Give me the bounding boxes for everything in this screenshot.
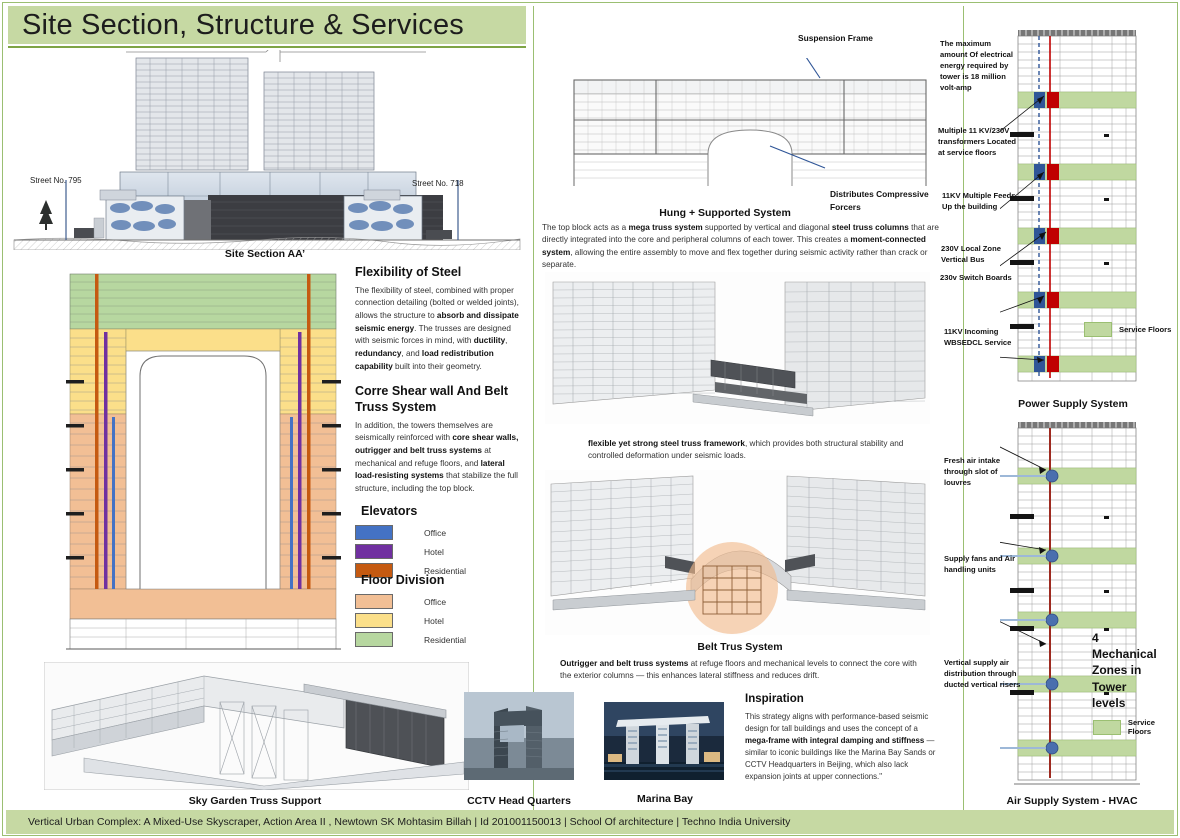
board-footer: Vertical Urban Complex: A Mixed-Use Skys… <box>6 810 1174 834</box>
belt-truss-text: Outrigger and belt truss systems at refu… <box>560 658 930 683</box>
power-anno-incoming: 11KV Incoming WBSEDCL Service <box>944 326 1028 348</box>
flexibility-body: The flexibility of steel, combined with … <box>355 285 525 374</box>
service-floors-label: Service Floors <box>1119 325 1171 334</box>
site-section-caption: Site Section AA’ <box>120 248 410 260</box>
inspiration-text: This strategy aligns with performance-ba… <box>745 711 937 782</box>
legend-label: Office <box>424 597 446 607</box>
mechanical-zones-note: 4 Mechanical Zones in Tower levels <box>1092 630 1154 711</box>
swatch-residential-floor <box>355 632 393 647</box>
flexibility-heading: Flexibility of Steel <box>355 265 525 281</box>
tower-section-drawing <box>66 272 341 657</box>
suspension-frame-label: Suspension Frame <box>798 32 908 44</box>
power-service-floors-legend: Service Floors <box>1084 322 1171 337</box>
hvac-anno-vertical-risers: Vertical supply air distribution through… <box>944 657 1026 690</box>
legend-item: Office <box>355 523 525 542</box>
legend-item: Residential <box>355 630 525 649</box>
hung-supported-elevation <box>560 58 940 186</box>
hvac-anno-supply-fans: Supply fans and Air handling units <box>944 553 1026 575</box>
belt-truss-body: Outrigger and belt truss systems at refu… <box>560 658 930 683</box>
marina-bay-caption: Marina Bay <box>600 793 730 805</box>
floor-division-legend-title: Floor Division <box>361 573 525 587</box>
core-shear-heading: Corre Shear wall And Belt Truss System <box>355 383 525 416</box>
power-anno-switchboards: 230v Switch Boards <box>940 272 1026 283</box>
legend-item: Hotel <box>355 611 525 630</box>
legend-label: Residential <box>424 635 466 645</box>
legend-item: Office <box>355 592 525 611</box>
swatch-office-floor <box>355 594 393 609</box>
site-section-drawing <box>8 50 526 250</box>
hvac-service-floors-legend: Service Floors <box>1093 718 1180 737</box>
hung-supported-body: The top block acts as a mega truss syste… <box>542 222 940 271</box>
hvac-anno-fresh-air: Fresh air intake through slot of louvres <box>944 455 1024 488</box>
legend-label: Office <box>424 528 446 538</box>
hvac-caption: Air Supply System - HVAC <box>972 795 1172 807</box>
elevators-legend-title: Elevators <box>361 504 525 518</box>
legend-label: Hotel <box>424 547 444 557</box>
swatch-hotel-floor <box>355 613 393 628</box>
core-shear-body: In addition, the towers themselves are s… <box>355 420 525 496</box>
power-supply-caption: Power Supply System <box>978 398 1168 410</box>
flexible-body-block: flexible yet strong steel truss framewor… <box>588 438 938 463</box>
legend-label: Hotel <box>424 616 444 626</box>
service-floors-label: Service Floors <box>1128 718 1180 737</box>
flexibility-of-steel-block: Flexibility of Steel The flexibility of … <box>355 265 525 374</box>
page-title: Site Section, Structure & Services <box>8 9 464 42</box>
flexible-body-text: flexible yet strong steel truss framewor… <box>588 438 938 463</box>
hung-supported-caption: Hung + Supported System <box>595 207 855 219</box>
street-label-left: Street No. 795 <box>30 176 82 185</box>
belt-truss-render <box>545 470 930 635</box>
inspiration-block: Inspiration This strategy aligns with pe… <box>745 692 937 783</box>
swatch-office-elevator <box>355 525 393 540</box>
street-label-right: Street No. 718 <box>412 179 464 188</box>
marina-bay-photo <box>604 702 724 780</box>
inspiration-heading: Inspiration <box>745 692 937 706</box>
power-anno-feeds: 11KV Multiple Feeds Up the building <box>942 190 1024 212</box>
truss-framework-render <box>545 272 930 424</box>
presentation-board: Site Section, Structure & Services <box>0 0 1180 838</box>
power-anno-local-bus: 230V Local Zone Vertical Bus <box>941 243 1023 265</box>
sky-garden-render <box>44 662 469 790</box>
title-underline <box>8 46 526 48</box>
power-anno-max-energy: The maximum amount Of electrical energy … <box>940 38 1018 93</box>
footer-text: Vertical Urban Complex: A Mixed-Use Skys… <box>6 816 790 828</box>
swatch-hotel-elevator <box>355 544 393 559</box>
floor-division-legend-rows: Office Hotel Residential <box>355 592 525 649</box>
cctv-caption: CCTV Head Quarters <box>449 795 589 807</box>
sky-garden-caption: Sky Garden Truss Support <box>90 795 420 807</box>
swatch-service-floors <box>1093 720 1121 735</box>
power-anno-transformers: Multiple 11 KV/230V transformers Located… <box>938 125 1020 158</box>
belt-truss-caption: Belt Trus System <box>600 641 880 653</box>
swatch-service-floors <box>1084 322 1112 337</box>
cctv-photo <box>464 692 574 780</box>
hvac-diagram <box>1000 418 1160 800</box>
hung-supported-text: The top block acts as a mega truss syste… <box>542 222 940 271</box>
board-title-bar: Site Section, Structure & Services <box>8 6 526 44</box>
legend-item: Hotel <box>355 542 525 561</box>
core-shear-block: Corre Shear wall And Belt Truss System I… <box>355 383 525 496</box>
floor-division-legend: Floor Division Office Hotel Residential <box>355 563 525 649</box>
